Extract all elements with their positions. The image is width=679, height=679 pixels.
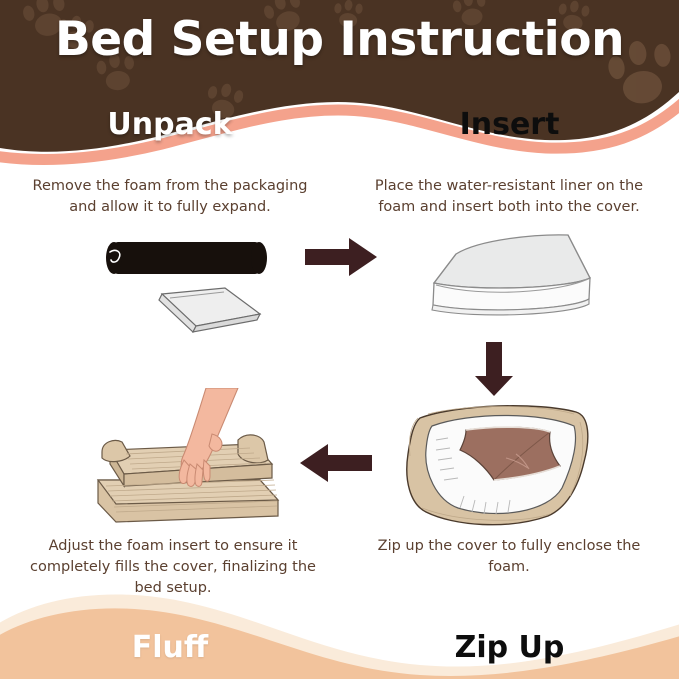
step-heading-zip-up: Zip Up: [340, 630, 679, 665]
rolled-foam-icon: [106, 242, 267, 274]
liner-pad-icon: [159, 288, 260, 332]
hand-fluffing-bed-illustration: [88, 388, 304, 533]
infographic-root: Bed Setup Instruction Unpack Insert Remo…: [0, 0, 679, 679]
arrow-right-icon: [303, 236, 379, 278]
caption-zip-up: Zip up the cover to fully enclose the fo…: [362, 536, 656, 578]
foam-slab-icon: [432, 235, 590, 315]
step-heading-insert: Insert: [340, 107, 679, 142]
arrow-down-icon: [473, 340, 515, 398]
page-title: Bed Setup Instruction: [0, 12, 679, 67]
caption-fluff: Adjust the foam insert to ensure it comp…: [28, 536, 318, 599]
header-banner: Bed Setup Instruction Unpack Insert: [0, 0, 679, 175]
bed-cover-zipping-illustration: [398, 396, 602, 530]
rolled-foam-and-liner-illustration: [100, 228, 290, 338]
arrow-left-icon: [298, 442, 374, 484]
step-heading-unpack: Unpack: [0, 107, 340, 142]
caption-insert: Place the water-resistant liner on the f…: [356, 176, 662, 218]
caption-unpack: Remove the foam from the packaging and a…: [18, 176, 322, 218]
step-heading-fluff: Fluff: [0, 630, 340, 665]
bed-cover-icon: [407, 406, 588, 525]
foam-slab-with-liner-illustration: [420, 226, 610, 336]
